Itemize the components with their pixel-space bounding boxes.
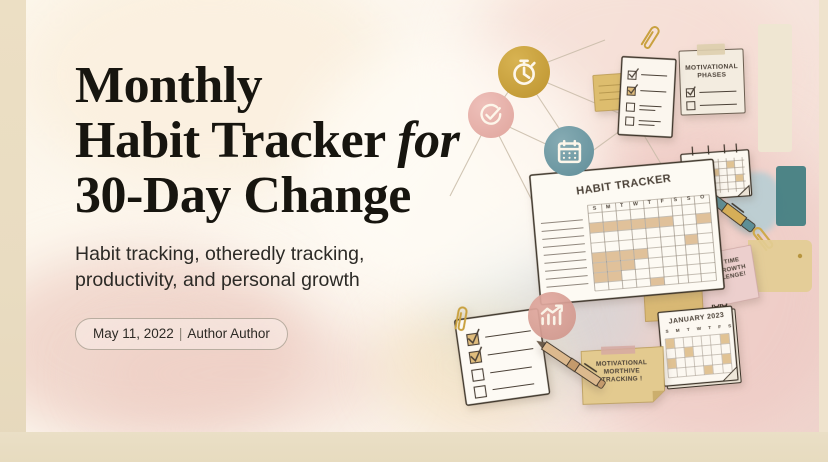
left-edge-strip [0,0,26,462]
motivational-phases-note: MOTIVATIONAL PHASES [677,43,747,117]
text-column: Monthly Habit Tracker for 30-Day Change … [75,58,545,350]
author-name: Author Author [187,326,270,341]
headline-line-2-italic: for [397,112,459,169]
headline-line-2-main: Habit Tracker [75,112,397,169]
meta-separator: | [179,326,183,341]
january-calendar-card: JANUARY 2023 S M T W T F S [655,302,746,391]
subtitle: Habit tracking, otheredly tracking, prod… [75,241,425,293]
calendar-badge [544,126,594,176]
headline-line-1: Monthly [75,58,545,113]
publish-date: May 11, 2022 [93,326,174,341]
headline-line-3: 30-Day Change [75,168,545,223]
headline-line-2: Habit Tracker for [75,113,545,168]
meta-pill: May 11, 2022|Author Author [75,318,288,350]
bottom-edge-strip [0,432,828,462]
habit-tracker-card: HABIT TRACKER S M T W T F S S O [526,156,727,308]
banner-root: MOTIVATIONAL PHASES [0,0,828,462]
page-title: Monthly Habit Tracker for 30-Day Change [75,58,545,223]
motivational-phases-note-text: MOTIVATIONAL PHASES [677,63,746,82]
calendar-icon [555,137,584,166]
checklist-card-top [616,55,678,140]
